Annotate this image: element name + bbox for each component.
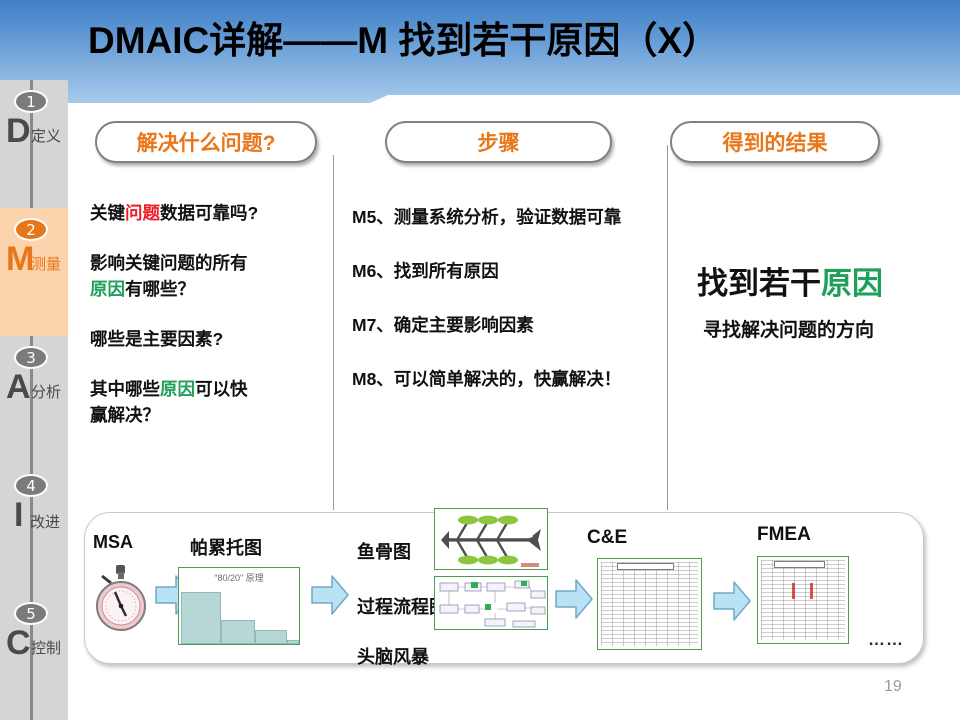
step-word-analyze: 分析 (31, 384, 61, 402)
fmea-accent-mark (810, 583, 813, 599)
cne-matrix-thumbnail (597, 558, 702, 650)
step-badge-5: 5 (14, 602, 48, 625)
q4-highlight-cause: 原因 (160, 379, 195, 399)
question-item: 关键问题数据可靠吗? (90, 200, 330, 226)
q4-part-c: 可以快 (195, 379, 248, 399)
q1-highlight-problem: 问题 (125, 203, 160, 223)
sidebar-item-control[interactable]: 5 C 控制 (0, 592, 68, 720)
q1-part-c: 数据可靠吗? (160, 203, 258, 223)
step-letter-d: D (6, 112, 31, 150)
step-badge-3: 3 (14, 346, 48, 369)
arrow-right-icon (310, 572, 350, 618)
fishbone-diagram-thumbnail (434, 508, 548, 570)
arrow-right-icon (554, 576, 594, 622)
cne-matrix-title-row (617, 563, 675, 570)
pareto-bar (255, 630, 287, 644)
step-m5: M5、测量系统分析，验证数据可靠 (352, 205, 667, 229)
result-subtitle: 寻找解决问题的方向 (703, 315, 874, 342)
q3-text: 哪些是主要因素? (90, 329, 223, 349)
step-badge-4: 4 (14, 474, 48, 497)
q1-part-a: 关键 (90, 203, 125, 223)
pareto-bar (181, 592, 221, 644)
q2-part-c: 有哪些？ (125, 279, 195, 299)
step-badge-2: 2 (14, 218, 48, 241)
q4-part-a: 其中哪些 (90, 379, 160, 399)
tool-label-fmea: FMEA (757, 524, 811, 546)
step-letter-i: I (14, 496, 23, 534)
sidebar-item-measure[interactable]: 2 M 测量 (0, 208, 68, 336)
step-badge-1: 1 (14, 90, 48, 113)
arrow-right-icon (712, 578, 752, 624)
sidebar-item-improve[interactable]: 4 I 改进 (0, 464, 68, 592)
header-pill-steps[interactable]: 步骤 (385, 121, 612, 163)
step-word-control: 控制 (31, 640, 61, 658)
tool-label-fishbone: 鱼骨图 (357, 538, 411, 564)
fmea-form-grid (761, 560, 845, 640)
q4-part-d: 赢解决？ (90, 405, 160, 425)
step-word-improve: 改进 (30, 514, 60, 532)
column-divider-1 (333, 155, 334, 510)
step-word-measure: 测量 (31, 256, 61, 274)
column-divider-2 (667, 145, 668, 510)
dmaic-sidebar: 1 D 定义 2 M 测量 3 A 分析 4 I 改进 5 C 控制 (0, 80, 68, 720)
tool-label-msa: MSA (93, 532, 133, 553)
result-headline-plain: 找到若干 (697, 266, 821, 301)
cne-matrix-grid (601, 562, 698, 646)
header-pill-result[interactable]: 得到的结果 (670, 121, 880, 163)
question-item: 哪些是主要因素? (90, 326, 330, 352)
slide-root: DMAIC详解——M 找到若干原因（X） 1 D 定义 2 M 测量 3 A 分… (0, 0, 960, 720)
fmea-form-title-row (774, 561, 824, 568)
tool-label-brainstorm: 头脑风暴 (357, 643, 429, 669)
tools-more-ellipsis: …… (868, 630, 904, 650)
step-m6: M6、找到所有原因 (352, 259, 667, 283)
process-flowchart-thumbnail (434, 576, 548, 630)
pareto-bar (221, 620, 255, 644)
step-word-define: 定义 (31, 128, 61, 146)
step-m7: M7、确定主要影响因素 (352, 313, 667, 337)
sidebar-item-analyze[interactable]: 3 A 分析 (0, 336, 68, 464)
questions-column: 关键问题数据可靠吗? 影响关键问题的所有 原因有哪些？ 哪些是主要因素? 其中哪… (90, 200, 330, 452)
step-m8: M8、可以简单解决的，快赢解决！ (352, 367, 667, 391)
fmea-accent-mark (792, 583, 795, 599)
result-headline: 找到若干原因 (697, 258, 883, 303)
page-number: 19 (884, 678, 902, 696)
step-letter-c: C (6, 624, 31, 662)
tool-label-pareto: 帕累托图 (190, 534, 262, 560)
stopwatch-icon (92, 562, 150, 634)
fishbone-icon (435, 509, 548, 570)
sidebar-item-define[interactable]: 1 D 定义 (0, 80, 68, 208)
steps-column: M5、测量系统分析，验证数据可靠 M6、找到所有原因 M7、确定主要影响因素 M… (352, 205, 667, 421)
pareto-bar (287, 640, 299, 644)
pareto-chart-caption: "80/20" 原理 (179, 571, 299, 584)
q2-highlight-cause: 原因 (90, 279, 125, 299)
flowchart-icon (435, 577, 548, 630)
question-item: 影响关键问题的所有 原因有哪些？ (90, 250, 330, 302)
result-headline-cause: 原因 (821, 266, 883, 301)
question-item: 其中哪些原因可以快 赢解决？ (90, 376, 330, 428)
pareto-chart-thumbnail: "80/20" 原理 (178, 567, 300, 645)
fmea-form-thumbnail (757, 556, 849, 644)
tool-label-cne: C&E (587, 527, 627, 549)
page-title: DMAIC详解——M 找到若干原因（X） (88, 10, 719, 64)
q2-part-a: 影响关键问题的所有 (90, 253, 248, 273)
header-pill-problem[interactable]: 解决什么问题? (95, 121, 317, 163)
step-letter-a: A (6, 368, 31, 406)
